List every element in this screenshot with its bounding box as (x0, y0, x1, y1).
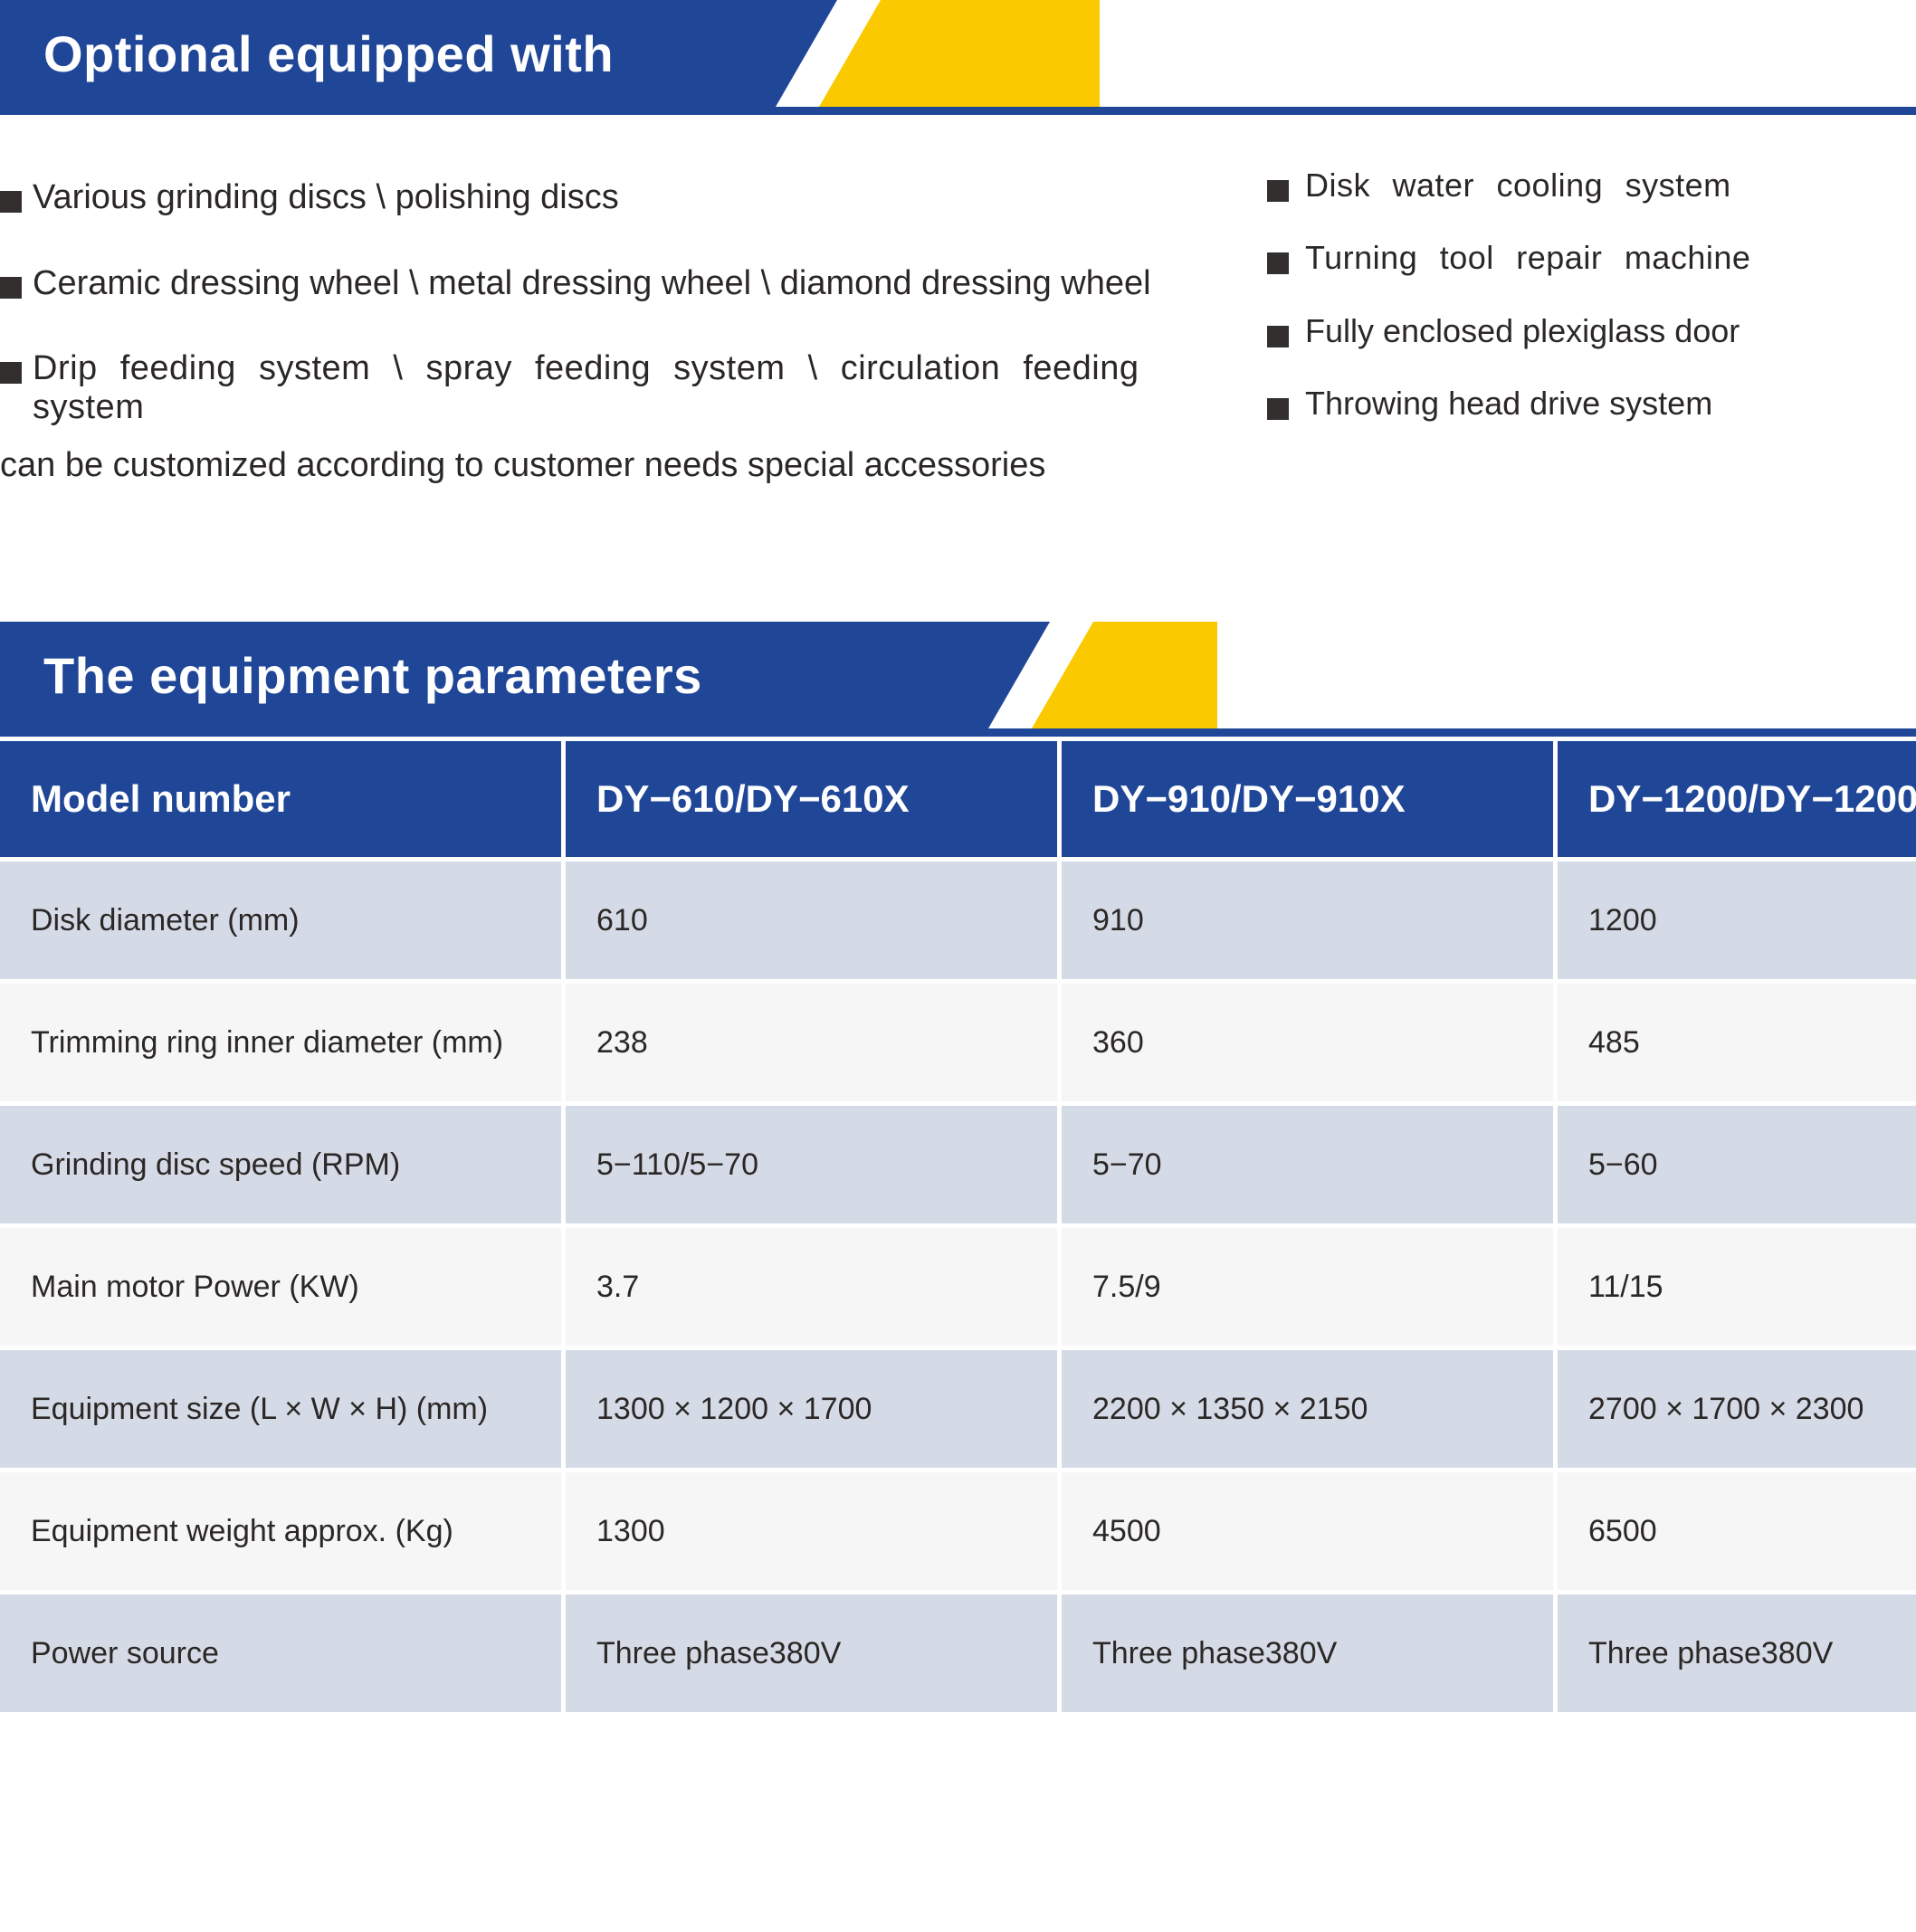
list-item: Fully enclosed plexiglass door (1267, 313, 1916, 349)
banner-yellow-accent (819, 0, 1100, 107)
cell-value: Three phase380V (566, 1594, 1057, 1712)
list-item: Turning tool repair machine (1267, 240, 1916, 276)
section-divider-rule-1 (0, 107, 1916, 115)
table-header-row: Model number DY−610/DY−610X DY−910/DY−91… (0, 741, 1916, 857)
bullet-square-icon (1267, 180, 1289, 202)
table-row: Equipment weight approx. (Kg) 1300 4500 … (0, 1472, 1916, 1590)
cell-value: 3.7 (566, 1228, 1057, 1346)
bullet-square-icon (1267, 252, 1289, 274)
cell-value: 2700 × 1700 × 2300 (1558, 1350, 1916, 1468)
row-label: Disk diameter (mm) (0, 861, 561, 979)
parameters-section-title: The equipment parameters (0, 646, 702, 705)
cell-value: 5−110/5−70 (566, 1106, 1057, 1223)
row-label: Trimming ring inner diameter (mm) (0, 984, 561, 1101)
optional-section-title: Optional equipped with (0, 24, 614, 83)
optional-features-area: Various grinding discs \ polishing discs… (0, 115, 1916, 622)
column-header-dy-910: DY−910/DY−910X (1062, 741, 1553, 857)
table-row: Equipment size (L × W × H) (mm) 1300 × 1… (0, 1350, 1916, 1468)
cell-value: 238 (566, 984, 1057, 1101)
row-label: Main motor Power (KW) (0, 1228, 561, 1346)
cell-value: 1300 (566, 1472, 1057, 1590)
cell-value: 1300 × 1200 × 1700 (566, 1350, 1057, 1468)
row-label: Equipment size (L × W × H) (mm) (0, 1350, 561, 1468)
table-row: Main motor Power (KW) 3.7 7.5/9 11/15 (0, 1228, 1916, 1346)
bullet-square-icon (0, 191, 22, 213)
bullet-square-icon (1267, 326, 1289, 347)
cell-value: 6500 (1558, 1472, 1916, 1590)
section-divider-rule-2 (0, 728, 1916, 737)
optional-section-banner: Optional equipped with (0, 0, 1916, 107)
cell-value: Three phase380V (1062, 1594, 1553, 1712)
column-header-dy-610: DY−610/DY−610X (566, 741, 1057, 857)
optional-left-column: Various grinding discs \ polishing discs… (0, 178, 1267, 532)
list-item-label: Various grinding discs \ polishing discs (33, 178, 619, 217)
table-row: Power source Three phase380V Three phase… (0, 1594, 1916, 1712)
row-label: Grinding disc speed (RPM) (0, 1106, 561, 1223)
cell-value: 4500 (1062, 1472, 1553, 1590)
list-item: Ceramic dressing wheel \ metal dressing … (0, 264, 1267, 303)
row-label: Power source (0, 1594, 561, 1712)
list-item-label: Throwing head drive system (1305, 385, 1712, 422)
banner-blue-plate: The equipment parameters (0, 622, 1050, 728)
optional-right-column: Disk water cooling system Turning tool r… (1267, 167, 1916, 458)
banner-yellow-accent (1032, 622, 1217, 728)
list-item-label: Turning tool repair machine (1305, 240, 1750, 276)
parameters-section-banner: The equipment parameters (0, 622, 1916, 728)
table-row: Disk diameter (mm) 610 910 1200 (0, 861, 1916, 979)
bullet-square-icon (1267, 398, 1289, 420)
list-item-label: Ceramic dressing wheel \ metal dressing … (33, 264, 1151, 303)
list-item-label: Fully enclosed plexiglass door (1305, 313, 1740, 349)
table-row: Trimming ring inner diameter (mm) 238 36… (0, 984, 1916, 1101)
table-row: Grinding disc speed (RPM) 5−110/5−70 5−7… (0, 1106, 1916, 1223)
cell-value: 5−60 (1558, 1106, 1916, 1223)
cell-value: 1200 (1558, 861, 1916, 979)
list-item: Disk water cooling system (1267, 167, 1916, 204)
column-header-model-number: Model number (0, 741, 561, 857)
list-item: Drip feeding system \ spray feeding syst… (0, 349, 1267, 485)
bullet-square-icon (0, 277, 22, 299)
list-item-label: Drip feeding system \ spray feeding syst… (33, 349, 1139, 426)
column-header-dy-1200: DY−1200/DY−1200X (1558, 741, 1916, 857)
cell-value: 2200 × 1350 × 2150 (1062, 1350, 1553, 1468)
cell-value: 11/15 (1558, 1228, 1916, 1346)
cell-value: 610 (566, 861, 1057, 979)
cell-value: 910 (1062, 861, 1553, 979)
cell-value: 360 (1062, 984, 1553, 1101)
list-item: Various grinding discs \ polishing discs (0, 178, 1267, 217)
cell-value: 485 (1558, 984, 1916, 1101)
row-label: Equipment weight approx. (Kg) (0, 1472, 561, 1590)
list-item-label-continued: can be customized according to customer … (0, 446, 1267, 485)
list-item-text-block: Drip feeding system \ spray feeding syst… (33, 349, 1267, 485)
list-item-label: Disk water cooling system (1305, 167, 1731, 204)
banner-blue-plate: Optional equipped with (0, 0, 837, 107)
cell-value: 5−70 (1062, 1106, 1553, 1223)
cell-value: Three phase380V (1558, 1594, 1916, 1712)
equipment-parameters-table: Model number DY−610/DY−610X DY−910/DY−91… (0, 737, 1916, 1717)
cell-value: 7.5/9 (1062, 1228, 1553, 1346)
list-item: Throwing head drive system (1267, 385, 1916, 422)
bullet-square-icon (0, 362, 22, 384)
